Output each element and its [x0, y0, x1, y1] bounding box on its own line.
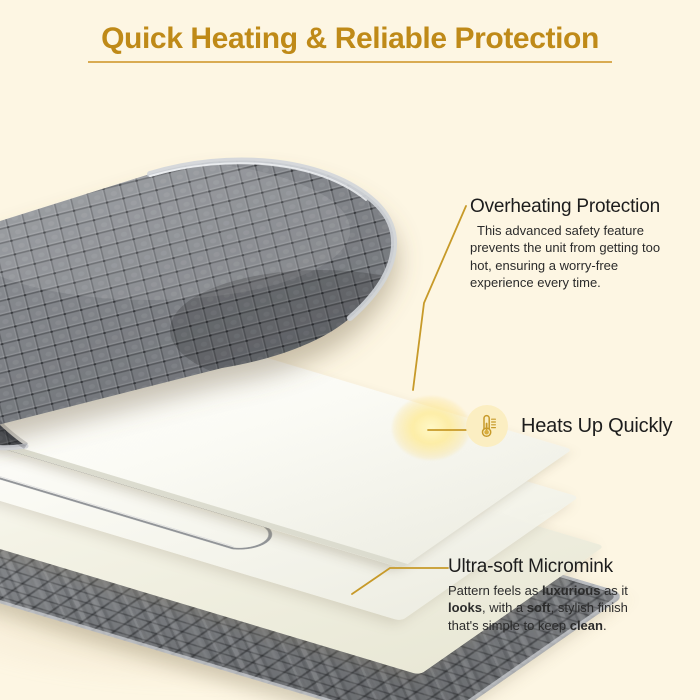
top-fabric-shape [0, 80, 510, 440]
callout-title: Heats Up Quickly [521, 415, 672, 438]
thermometer-badge [466, 405, 508, 447]
callout-title: Ultra-soft Micromink [448, 556, 653, 578]
callout-title: Overheating Protection [470, 196, 685, 218]
callout-body: Pattern feels as luxurious as it looks, … [448, 582, 653, 634]
callout-overheating-protection: Overheating Protection This advanced saf… [470, 196, 685, 292]
infographic-page: Quick Heating & Reliable Protection [0, 0, 700, 700]
thermometer-icon [475, 413, 499, 439]
title-underline [88, 61, 612, 63]
page-title: Quick Heating & Reliable Protection [0, 22, 700, 55]
title-block: Quick Heating & Reliable Protection [0, 22, 700, 63]
wire-glow-highlight [392, 396, 470, 460]
callout-heats-up-quickly: Heats Up Quickly [466, 405, 672, 447]
callout-ultra-soft-micromink: Ultra-soft Micromink Pattern feels as lu… [448, 556, 653, 634]
product-layer-top-micromink-fabric [0, 80, 510, 440]
callout-body: This advanced safety feature prevents th… [470, 222, 685, 292]
